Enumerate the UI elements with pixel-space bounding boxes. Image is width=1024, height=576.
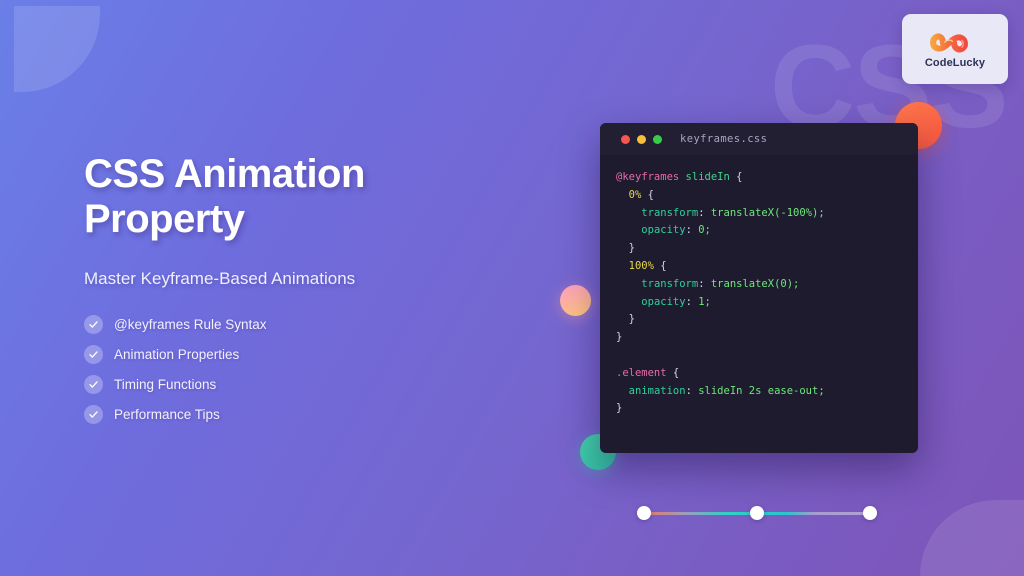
- corner-decoration-bottom-right: [920, 500, 1024, 576]
- decorative-circle-pink: [560, 285, 591, 316]
- list-item: Animation Properties: [84, 345, 514, 364]
- progress-track-segment-2: [757, 512, 877, 515]
- hero-content: CSS Animation Property Master Keyframe-B…: [84, 152, 514, 435]
- progress-track-segment-1: [637, 512, 757, 515]
- progress-dot-3[interactable]: [863, 506, 877, 520]
- list-item: Performance Tips: [84, 405, 514, 424]
- code-content: @keyframes slideIn { 0% { transform: tra…: [600, 155, 918, 432]
- brand-logo-badge[interactable]: CodeLucky: [902, 14, 1008, 84]
- feature-label: @keyframes Rule Syntax: [114, 317, 267, 332]
- check-icon: [84, 405, 103, 424]
- corner-decoration-top-left: [14, 6, 100, 92]
- progress-indicator[interactable]: [637, 506, 877, 520]
- minimize-window-icon[interactable]: [637, 135, 646, 144]
- maximize-window-icon[interactable]: [653, 135, 662, 144]
- brand-name-label: CodeLucky: [925, 57, 985, 69]
- close-window-icon[interactable]: [621, 135, 630, 144]
- check-icon: [84, 345, 103, 364]
- code-editor-titlebar: keyframes.css: [600, 123, 918, 155]
- code-filename-label: keyframes.css: [680, 133, 767, 145]
- feature-label: Timing Functions: [114, 377, 216, 392]
- progress-dot-1[interactable]: [637, 506, 651, 520]
- check-icon: [84, 315, 103, 334]
- feature-list: @keyframes Rule Syntax Animation Propert…: [84, 315, 514, 424]
- page-title: CSS Animation Property: [84, 152, 414, 242]
- list-item: @keyframes Rule Syntax: [84, 315, 514, 334]
- progress-dot-2[interactable]: [750, 506, 764, 520]
- feature-label: Animation Properties: [114, 347, 239, 362]
- list-item: Timing Functions: [84, 375, 514, 394]
- code-editor-window[interactable]: keyframes.css @keyframes slideIn { 0% { …: [600, 123, 918, 453]
- page-subtitle: Master Keyframe-Based Animations: [84, 269, 514, 289]
- feature-label: Performance Tips: [114, 407, 220, 422]
- check-icon: [84, 375, 103, 394]
- infinity-loop-icon: [929, 30, 981, 56]
